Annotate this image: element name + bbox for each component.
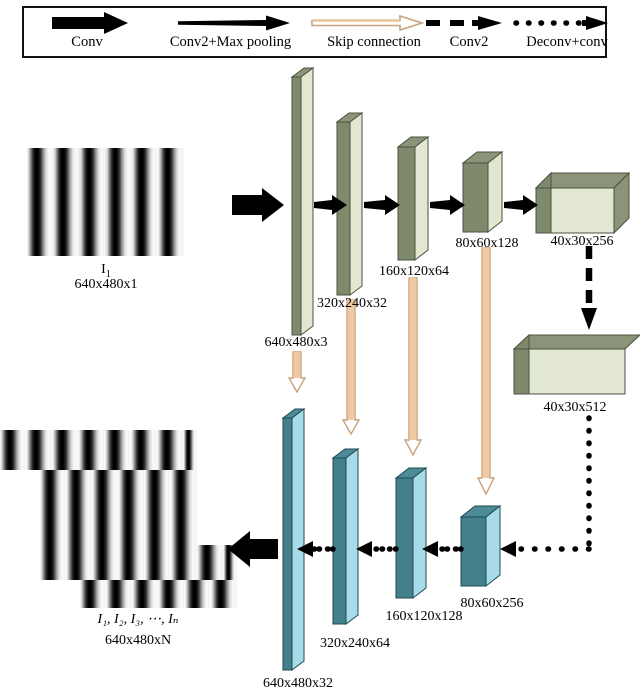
bottleneck-dims: 40x30x512	[525, 400, 625, 415]
encoder-block-5	[536, 173, 629, 233]
skip-connection-arrow-2	[343, 300, 359, 434]
bottleneck-block	[514, 335, 640, 394]
encoder-block-5-dims: 40x30x256	[532, 234, 632, 249]
encoder-block-1-dims: 640x480x3	[246, 335, 346, 350]
output-label: I₁, I₂, I₃, ⋯, Iₙ	[48, 612, 228, 627]
encoder-block-3	[398, 137, 428, 260]
output-fringe-stack	[0, 430, 237, 608]
skip-connection-arrow-1	[289, 352, 305, 392]
conv2-maxpool-arrow-3	[430, 195, 465, 215]
conv2-maxpool-arrow-2	[364, 195, 400, 215]
encoder-block-4-dims: 80x60x128	[437, 236, 537, 251]
decoder-block-4-dims: 640x480x32	[248, 676, 348, 691]
figure-canvas: Conv Conv2+Max pooling Skip connection	[0, 0, 640, 695]
encoder-block-4	[463, 152, 502, 232]
skip-connection-arrow-3	[405, 278, 421, 455]
input-fringe-image	[27, 148, 184, 256]
conv2-maxpool-arrow-4	[504, 195, 538, 215]
decoder-block-4	[283, 409, 304, 670]
conv-arrow-input	[232, 188, 284, 222]
encoder-block-1	[292, 68, 313, 335]
decoder-block-1	[461, 506, 500, 586]
decoder-block-3-dims: 320x240x64	[305, 636, 405, 651]
decoder-block-2	[396, 468, 426, 598]
input-dims: 640x480x1	[56, 277, 156, 292]
skip-connection-arrow-4	[478, 248, 494, 494]
conv2-dashed-arrow	[581, 246, 597, 330]
decoder-block-2-dims: 160x120x128	[369, 609, 479, 624]
output-dims-prefix: 640x480x	[105, 633, 161, 648]
decoder-block-3	[333, 449, 358, 624]
output-dims-suffix: N	[161, 633, 171, 648]
encoder-block-3-dims: 160x120x64	[364, 264, 464, 279]
encoder-block-2-dims: 320x240x32	[302, 296, 402, 311]
output-dims: 640x480xN	[48, 633, 228, 648]
